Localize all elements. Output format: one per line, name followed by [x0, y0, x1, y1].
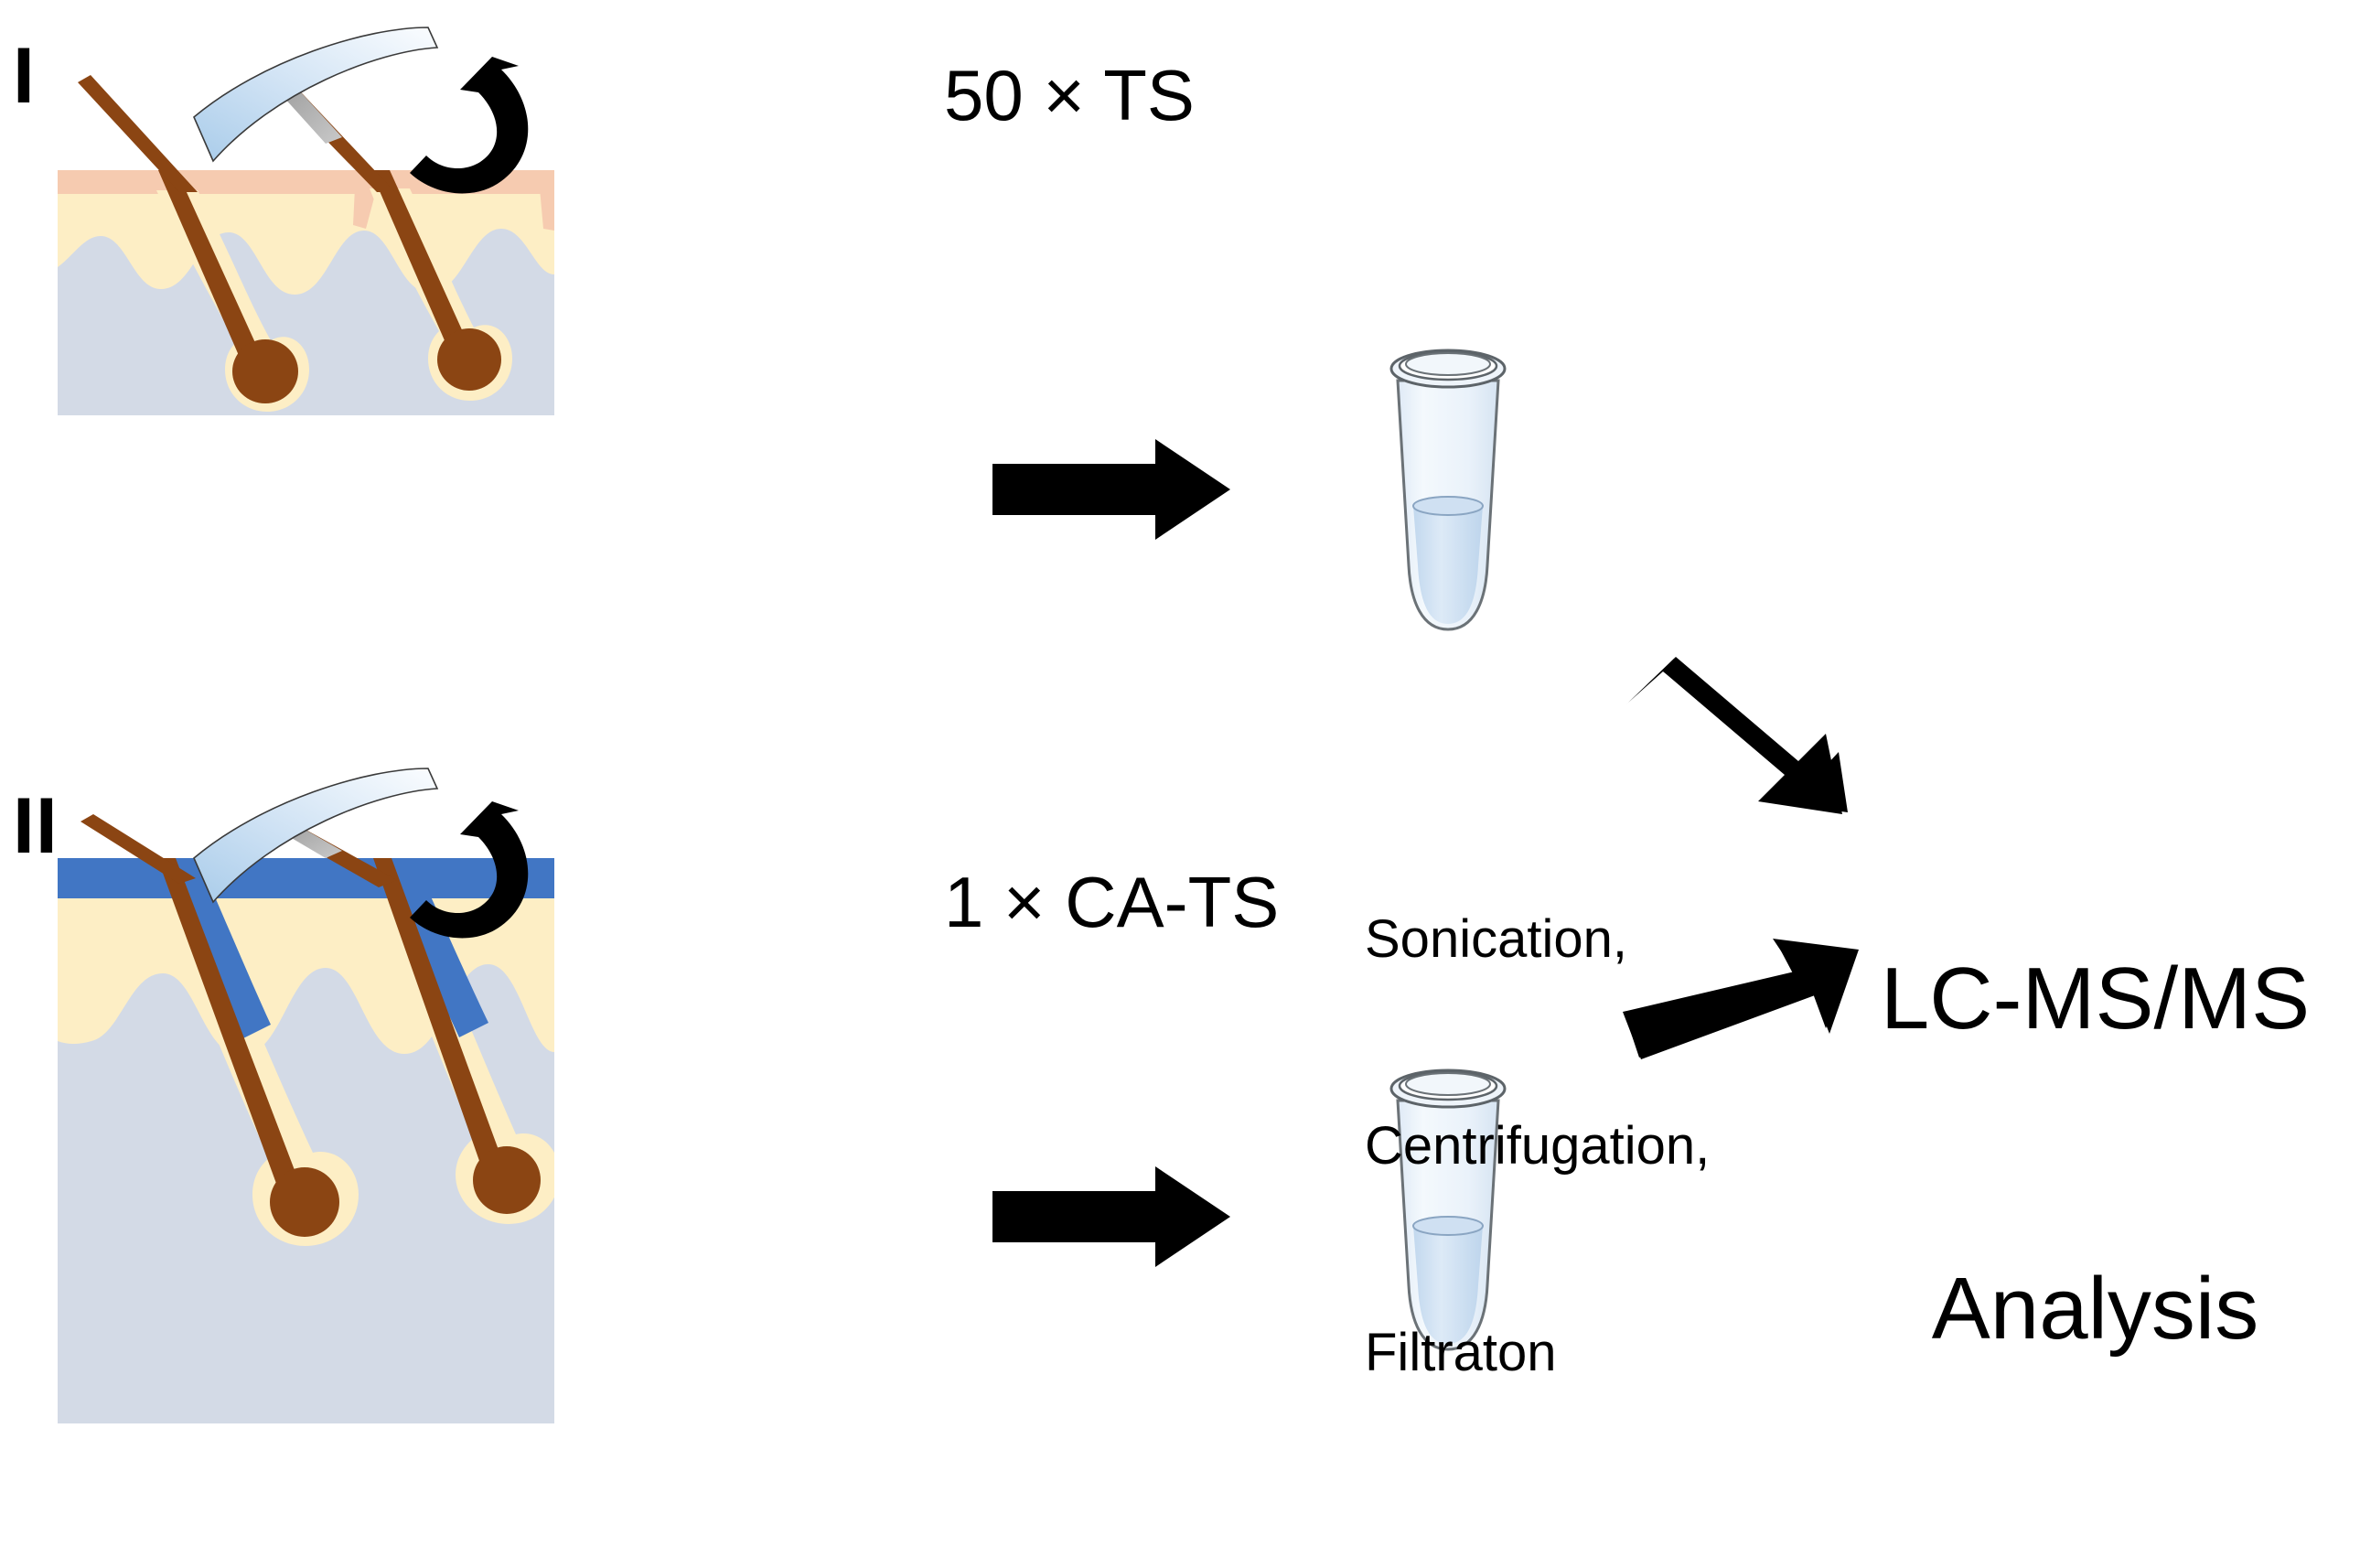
step-label-panel-2: 1 × CA-TS: [944, 860, 1279, 944]
cyanoacrylate-surface-layer-2: [58, 858, 554, 898]
step-label-panel-1: 50 × TS: [944, 53, 1195, 137]
result-analysis-text: LC-MS/MS Analysis: [1846, 739, 2344, 1568]
skin-diagram-panel-2: [0, 750, 970, 1464]
process-line-2: Centrifugation,: [1365, 1112, 1710, 1180]
skin-diagram-panel-1: [0, 0, 970, 723]
result-line-1: LC-MS/MS: [1846, 947, 2344, 1050]
curved-peel-arrow-icon-1: [410, 57, 528, 193]
block-arrow-down-right-icon: [1619, 650, 1884, 814]
figure-canvas: I: [0, 0, 2360, 1464]
result-line-2: Analysis: [1846, 1257, 2344, 1360]
skin-layers-1: [58, 170, 554, 415]
block-arrow-right-icon-1: [992, 439, 1230, 540]
block-arrow-right-icon-2: [992, 1166, 1230, 1267]
tape-strip-icon-1: [194, 27, 437, 161]
hair-bulb-1b: [437, 328, 501, 391]
hair-bulb-1a: [232, 339, 298, 403]
block-arrow-up-right-icon: [1619, 906, 1884, 1061]
hair-bulb-2a: [270, 1167, 339, 1237]
process-step-text: Sonication, Centrifugation, Filtraton: [1365, 767, 1710, 1525]
microcentrifuge-tube-icon-1: [1357, 337, 1539, 657]
hair-bulb-2b: [473, 1146, 541, 1214]
skin-layers-2: [58, 858, 560, 1423]
process-line-3: Filtraton: [1365, 1318, 1710, 1387]
